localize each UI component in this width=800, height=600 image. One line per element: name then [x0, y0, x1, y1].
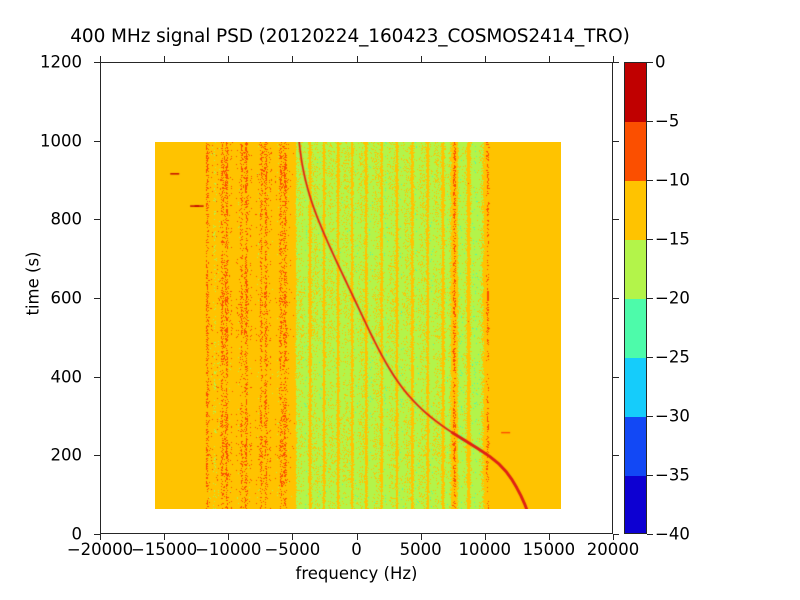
y-axis-tick [94, 455, 100, 456]
colorbar-ticklabel: −15 [655, 230, 690, 249]
page-title: 400 MHz signal PSD (20120224_160423_COSM… [0, 26, 700, 47]
y-axis-tick [94, 219, 100, 220]
x-axis-tick-top [421, 56, 422, 62]
figure-canvas: 400 MHz signal PSD (20120224_160423_COSM… [0, 0, 800, 600]
x-axis-tick-top [100, 56, 101, 62]
colorbar-band [625, 358, 646, 418]
colorbar-tick [647, 62, 653, 63]
x-axis-tick-top [485, 56, 486, 62]
colorbar-ticklabel: −25 [655, 348, 690, 367]
y-axis-tick-right [613, 455, 619, 456]
x-axis-tick-top [613, 56, 614, 62]
y-axis-ticklabel: 800 [0, 210, 91, 229]
colorbar-tick [647, 416, 653, 417]
y-axis-tick-right [613, 377, 619, 378]
y-axis-tick [94, 298, 100, 299]
y-axis-tick-right [613, 298, 619, 299]
colorbar-band [625, 122, 646, 182]
colorbar-tick [647, 475, 653, 476]
colorbar-tick [647, 180, 653, 181]
colorbar-ticklabel: −30 [655, 407, 690, 426]
colorbar-ticklabel: −5 [655, 112, 679, 131]
y-axis-ticklabel: 400 [0, 367, 91, 386]
colorbar-band [625, 181, 646, 241]
colorbar-band [625, 417, 646, 477]
spectrogram-image [155, 142, 561, 509]
y-axis-tick-right [613, 219, 619, 220]
y-axis-ticklabel: 1200 [0, 53, 91, 72]
y-axis-tick [94, 62, 100, 63]
colorbar-ticklabel: 0 [655, 53, 666, 72]
x-axis-tick-top [164, 56, 165, 62]
colorbar-tick [647, 121, 653, 122]
x-axis-tick-top [357, 56, 358, 62]
y-axis-tick-right [613, 141, 619, 142]
x-axis-label: frequency (Hz) [100, 564, 613, 583]
y-axis-label: time (s) [24, 204, 43, 364]
x-axis-tick-top [292, 56, 293, 62]
colorbar-tick [647, 357, 653, 358]
y-axis-tick [94, 377, 100, 378]
colorbar-band [625, 476, 646, 534]
colorbar-tick [647, 298, 653, 299]
x-axis-tick-top [549, 56, 550, 62]
colorbar-ticklabel: −10 [655, 171, 690, 190]
y-axis-ticklabel: 1000 [0, 131, 91, 150]
colorbar [624, 62, 647, 534]
colorbar-tick [647, 534, 653, 535]
y-axis-ticklabel: 200 [0, 446, 91, 465]
colorbar-ticklabel: −20 [655, 289, 690, 308]
plot-axes [100, 62, 613, 534]
colorbar-ticklabel: −35 [655, 466, 690, 485]
colorbar-tick [647, 239, 653, 240]
y-axis-tick [94, 141, 100, 142]
y-axis-ticklabel: 600 [0, 289, 91, 308]
colorbar-band [625, 63, 646, 123]
colorbar-band [625, 299, 646, 359]
y-axis-tick-right [613, 62, 619, 63]
colorbar-band [625, 240, 646, 300]
x-axis-tick-top [228, 56, 229, 62]
colorbar-ticklabel: −40 [655, 525, 690, 544]
